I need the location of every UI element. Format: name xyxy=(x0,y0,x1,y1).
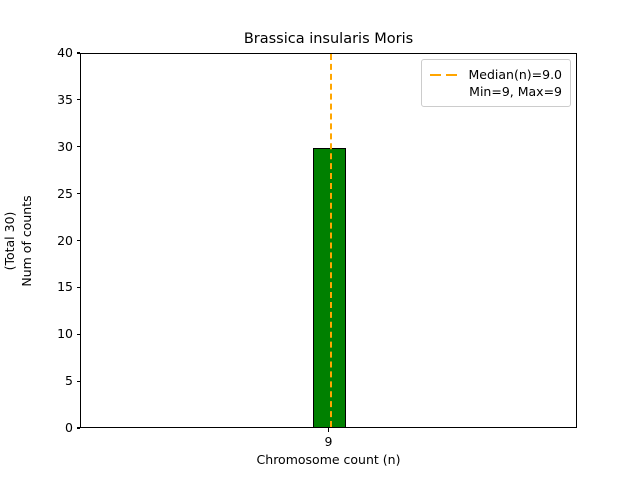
legend-label-median: Median(n)=9.0 xyxy=(469,66,563,83)
plot-area: Median(n)=9.0 Min=9, Max=9 xyxy=(80,53,577,428)
median-line xyxy=(330,54,332,427)
y-tick-label: 10 xyxy=(57,326,73,342)
x-tick-label: 9 xyxy=(289,434,369,450)
y-axis-label-line-1: Num of counts xyxy=(18,195,35,286)
x-axis-label: Chromosome count (n) xyxy=(80,452,577,468)
y-axis-label: (Total 30) Num of counts xyxy=(0,53,36,428)
chart-figure: Brassica insularis Moris (Total 30) Num … xyxy=(0,0,640,480)
dashed-line-icon xyxy=(430,68,460,82)
y-axis-label-line-2: (Total 30) xyxy=(1,195,18,286)
legend-item-median: Median(n)=9.0 xyxy=(430,66,563,83)
x-tick-mark xyxy=(328,428,329,432)
y-tick-label: 5 xyxy=(65,373,73,389)
legend-label-minmax: Min=9, Max=9 xyxy=(469,83,562,100)
y-tick-label: 30 xyxy=(57,139,73,155)
legend: Median(n)=9.0 Min=9, Max=9 xyxy=(421,59,572,107)
legend-item-minmax: Min=9, Max=9 xyxy=(430,83,563,100)
y-tick-label: 15 xyxy=(57,279,73,295)
y-tick-label: 25 xyxy=(57,186,73,202)
y-tick-label: 40 xyxy=(57,45,73,61)
chart-title: Brassica insularis Moris xyxy=(80,31,577,48)
y-tick-label: 20 xyxy=(57,233,73,249)
y-tick-label: 35 xyxy=(57,92,73,108)
y-tick-label: 0 xyxy=(65,420,73,436)
